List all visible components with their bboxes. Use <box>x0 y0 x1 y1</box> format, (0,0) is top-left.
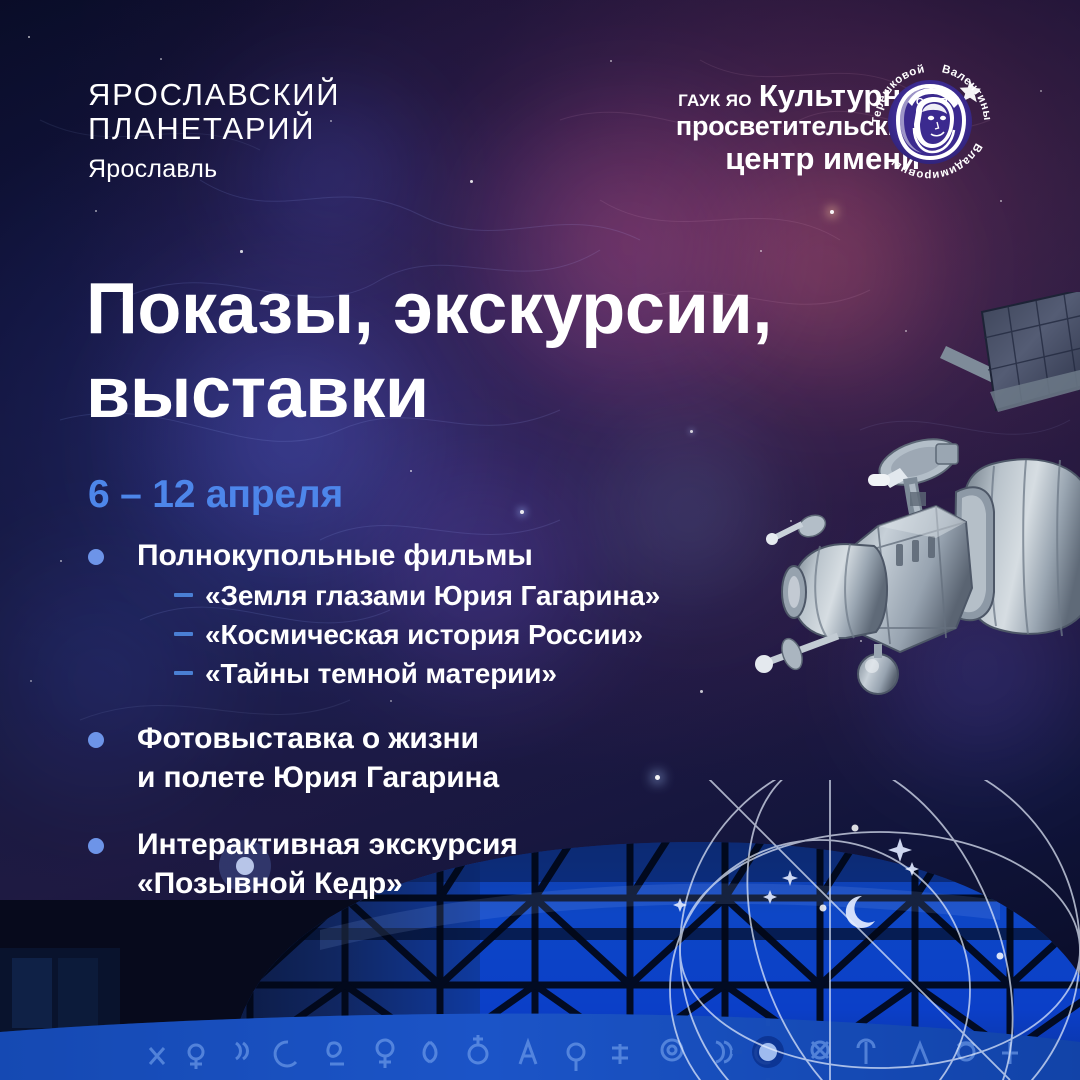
list-item: Фотовыставка о жизни и полете Юрия Гагар… <box>88 719 848 797</box>
headline-line-1: Показы, экскурсии, <box>86 268 966 352</box>
list-spacer <box>88 699 848 719</box>
dash-icon <box>174 671 193 675</box>
tereshkova-badge: Терешковой Валентины Владимировны <box>866 58 994 186</box>
organization-block: ГАУК ЯОКультурно просветительский центр … <box>500 80 920 175</box>
badge-svg: Терешковой Валентины Владимировны <box>866 58 994 186</box>
organization-line-3: центр имени <box>500 142 920 175</box>
sphere-tank <box>858 644 898 694</box>
cosmonaut-portrait-icon: СССР <box>896 84 966 160</box>
organization-prefix: ГАУК ЯО <box>678 92 752 110</box>
date-range: 6 – 12 апреля <box>88 473 343 517</box>
list-item-title-line-1: Интерактивная экскурсия <box>137 825 848 864</box>
headline-line-2: выставки <box>86 352 966 436</box>
bullet-dot-icon <box>88 549 104 565</box>
dash-icon <box>174 593 193 597</box>
sub-list: «Земля глазами Юрия Гагарина» «Космическ… <box>137 578 848 691</box>
poster-canvas: ЯРОСЛАВСКИЙ ПЛАНЕТАРИЙ Ярославль ГАУК ЯО… <box>0 0 1080 1080</box>
list-item-title-line-2: и полете Юрия Гагарина <box>137 758 848 797</box>
organization-line-1-row: ГАУК ЯОКультурно <box>500 80 920 112</box>
list-item: Интерактивная экскурсия «Позывной Кедр» <box>88 825 848 903</box>
page-title: Показы, экскурсии, выставки <box>86 268 966 435</box>
planetarium-logo: ЯРОСЛАВСКИЙ ПЛАНЕТАРИЙ Ярославль <box>88 78 340 184</box>
list-item-title-line-2: «Позывной Кедр» <box>137 864 848 903</box>
sub-list-item: «Земля глазами Юрия Гагарина» <box>137 578 848 614</box>
organization-line-2: просветительский <box>500 112 920 142</box>
list-item: Полнокупольные фильмы «Земля глазами Юри… <box>88 536 848 691</box>
list-spacer <box>88 805 848 825</box>
bullet-dot-icon <box>88 732 104 748</box>
logo-city: Ярославль <box>88 155 340 184</box>
sub-list-item: «Космическая история России» <box>137 617 848 653</box>
sub-list-label: «Тайны темной материи» <box>205 656 557 692</box>
list-item-title-line-1: Фотовыставка о жизни <box>137 719 848 758</box>
program-list: Полнокупольные фильмы «Земля глазами Юри… <box>88 536 848 911</box>
sub-list-label: «Космическая история России» <box>205 617 643 653</box>
sub-list-item: «Тайны темной материи» <box>137 656 848 692</box>
logo-line-2: ПЛАНЕТАРИЙ <box>88 112 340 146</box>
dash-icon <box>174 632 193 636</box>
logo-line-1: ЯРОСЛАВСКИЙ <box>88 78 340 112</box>
sub-list-label: «Земля глазами Юрия Гагарина» <box>205 578 660 614</box>
list-item-title: Полнокупольные фильмы <box>137 536 848 575</box>
bullet-dot-icon <box>88 838 104 854</box>
